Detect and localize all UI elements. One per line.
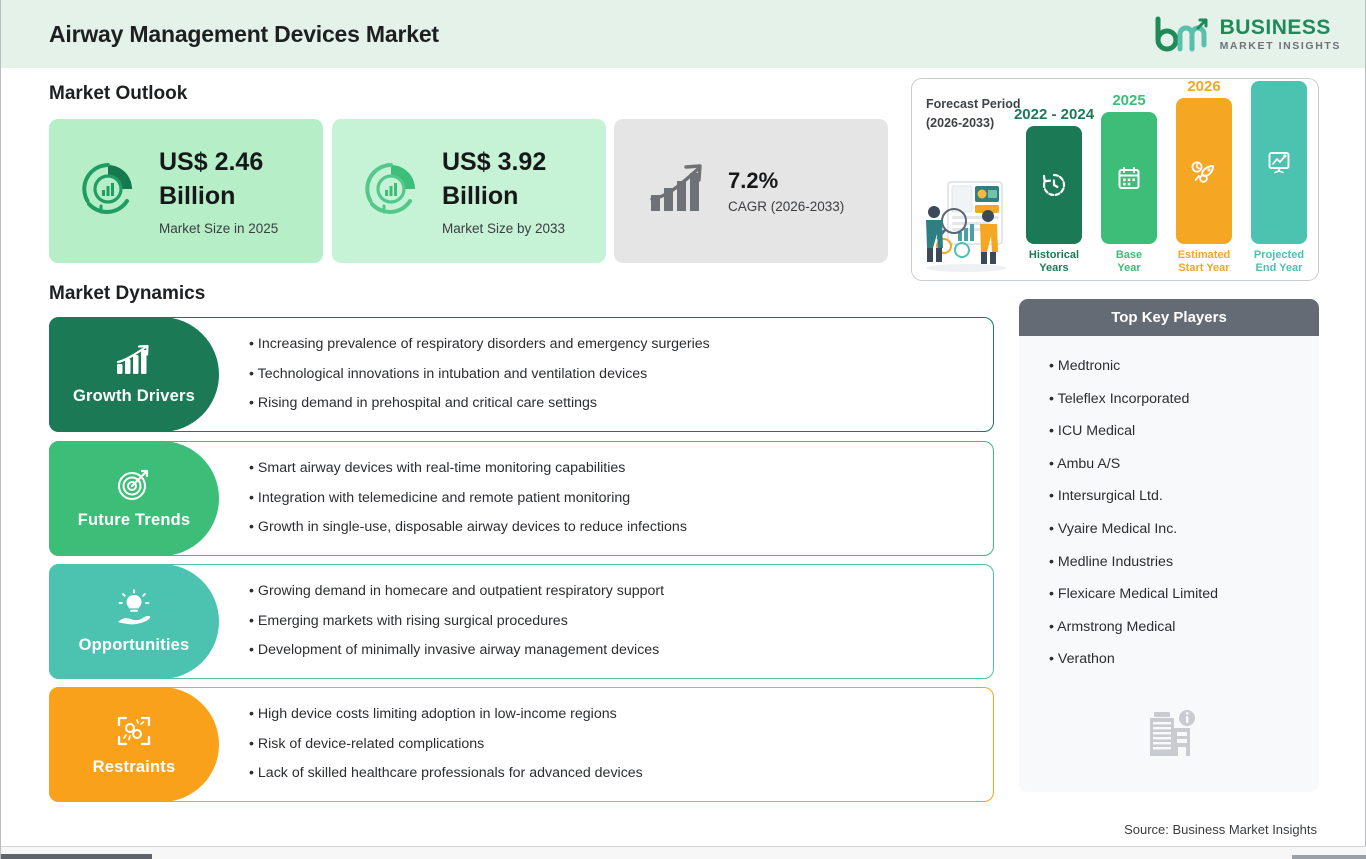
dynamics-pill-label: Restraints [93, 758, 176, 777]
stat-card-market-size-2033: US$ 3.92 Billion Market Size by 2033 [332, 119, 606, 263]
bar-caption-line2: Start Year [1178, 262, 1231, 276]
rocket-target-icon [1190, 158, 1218, 184]
bar-caption: Projected End Year [1254, 249, 1304, 277]
dynamics-row-future-trends: Future Trends • Smart airway devices wit… [49, 441, 994, 556]
bullet-item: • Increasing prevalence of respiratory d… [249, 336, 980, 354]
bar-caption-line2: End Year [1254, 262, 1304, 276]
constraint-brackets-icon [115, 713, 153, 754]
presentation-chart-icon [1266, 149, 1292, 175]
bar-caption-line2: Year [1116, 262, 1142, 276]
bmi-logo-icon [1154, 15, 1210, 53]
forecast-bars: 2022 - 2024 Historical Years 2025 [1020, 79, 1319, 281]
bullet-item: • Smart airway devices with real-time mo… [249, 460, 980, 478]
bar-rect [1026, 126, 1082, 244]
key-players-header: Top Key Players [1019, 299, 1319, 336]
list-item: • ICU Medical [1049, 423, 1319, 439]
bar-year-label: 2025 [1112, 92, 1145, 109]
page-title: Airway Management Devices Market [49, 21, 439, 48]
bar-caption: Historical Years [1029, 249, 1079, 277]
brand-logo: BUSINESS MARKET INSIGHTS [1154, 15, 1341, 53]
forecast-bar-projected-end: 2033 Projected End Year [1251, 78, 1307, 276]
bar-year-label: 2026 [1187, 78, 1220, 95]
dynamics-row-restraints: Restraints • High device costs limiting … [49, 687, 994, 802]
list-item: • Armstrong Medical [1049, 619, 1319, 635]
scrollbar-end-marker[interactable] [1292, 855, 1366, 859]
page-header: Airway Management Devices Market BUSINES… [1, 0, 1365, 68]
forecast-subtitle-line: (2026-2033) [926, 114, 1020, 133]
bullet-item: • Emerging markets with rising surgical … [249, 613, 980, 631]
logo-brand-text: BUSINESS [1220, 17, 1341, 38]
bar-caption: Base Year [1116, 249, 1142, 277]
list-item: • Medtronic [1049, 358, 1319, 374]
forecast-title-line: Forecast Period [926, 95, 1020, 114]
team-analytics-illustration [918, 174, 1014, 274]
bar-caption-line1: Base [1116, 249, 1142, 263]
key-players-list: • Medtronic • Teleflex Incorporated • IC… [1019, 336, 1319, 667]
bullet-item: • High device costs limiting adoption in… [249, 706, 980, 724]
dynamics-pill-future-trends: Future Trends [49, 441, 219, 556]
forecast-bar-historical: 2022 - 2024 Historical Years [1026, 106, 1082, 277]
list-item: • Teleflex Incorporated [1049, 391, 1319, 407]
calendar-icon [1116, 165, 1142, 191]
dynamics-row-growth-drivers: Growth Drivers • Increasing prevalence o… [49, 317, 994, 432]
growth-arrow-chart-icon [648, 161, 710, 222]
bullet-item: • Development of minimally invasive airw… [249, 642, 980, 660]
bullet-item: • Growing demand in homecare and outpati… [249, 583, 980, 601]
stat-value-line2: Billion [442, 180, 565, 214]
stat-value-line2: Billion [159, 180, 278, 214]
list-item: • Ambu A/S [1049, 456, 1319, 472]
dynamics-pill-label: Future Trends [78, 511, 191, 530]
bar-rect [1101, 112, 1157, 244]
source-note: Source: Business Market Insights [1124, 822, 1317, 837]
company-building-info-icon [1144, 706, 1200, 762]
stat-value-cagr: 7.2% [728, 168, 844, 194]
bar-rect [1251, 81, 1307, 244]
dynamics-pill-opportunities: Opportunities [49, 564, 219, 679]
donut-chart-icon [79, 160, 137, 223]
dynamics-pill-restraints: Restraints [49, 687, 219, 802]
logo-tagline-text: MARKET INSIGHTS [1220, 41, 1341, 52]
dynamics-pill-label: Opportunities [79, 636, 190, 655]
bullet-item: • Technological innovations in intubatio… [249, 366, 980, 384]
stat-caption: Market Size in 2025 [159, 221, 278, 236]
donut-chart-icon [362, 160, 420, 223]
forecast-period-chart: Forecast Period (2026-2033) [911, 78, 1319, 281]
stat-caption: Market Size by 2033 [442, 221, 565, 236]
bar-caption-line2: Years [1029, 262, 1079, 276]
stat-card-cagr: 7.2% CAGR (2026-2033) [614, 119, 888, 263]
bar-caption-line1: Projected [1254, 249, 1304, 263]
bar-rect [1176, 98, 1232, 244]
forecast-chart-title: Forecast Period (2026-2033) [926, 95, 1020, 134]
list-item: • Flexicare Medical Limited [1049, 586, 1319, 602]
dynamics-pill-label: Growth Drivers [73, 387, 195, 406]
dynamics-bullets: • High device costs limiting adoption in… [249, 687, 980, 802]
forecast-bar-base-year: 2025 Base Year [1101, 92, 1157, 277]
bar-caption-line1: Estimated [1178, 249, 1231, 263]
bar-year-label: 2022 - 2024 [1014, 106, 1094, 123]
history-clock-icon [1041, 172, 1067, 198]
horizontal-scrollbar-track[interactable] [1, 846, 1366, 859]
key-players-heading: Top Key Players [1111, 309, 1227, 326]
bullet-item: • Lack of skilled healthcare professiona… [249, 765, 980, 783]
bullet-item: • Growth in single-use, disposable airwa… [249, 519, 980, 537]
stat-card-market-size-2025: US$ 2.46 Billion Market Size in 2025 [49, 119, 323, 263]
dynamics-bullets: • Increasing prevalence of respiratory d… [249, 317, 980, 432]
stat-value-line1: US$ 3.92 [442, 146, 565, 180]
bullet-item: • Rising demand in prehospital and criti… [249, 395, 980, 413]
bar-caption-line1: Historical [1029, 249, 1079, 263]
top-key-players-panel: Top Key Players • Medtronic • Teleflex I… [1019, 299, 1319, 792]
bullet-item: • Risk of device-related complications [249, 736, 980, 754]
dynamics-row-opportunities: Opportunities • Growing demand in homeca… [49, 564, 994, 679]
bullet-item: • Integration with telemedicine and remo… [249, 490, 980, 508]
stat-caption: CAGR (2026-2033) [728, 199, 844, 214]
infographic-page: Airway Management Devices Market BUSINES… [0, 0, 1366, 859]
stat-value-line1: US$ 2.46 [159, 146, 278, 180]
lightbulb-hand-icon [114, 589, 154, 632]
list-item: • Intersurgical Ltd. [1049, 488, 1319, 504]
market-dynamics-heading: Market Dynamics [49, 283, 205, 305]
list-item: • Medline Industries [1049, 554, 1319, 570]
list-item: • Vyaire Medical Inc. [1049, 521, 1319, 537]
bar-chart-arrow-icon [114, 344, 154, 383]
bar-caption: Estimated Start Year [1178, 249, 1231, 277]
forecast-bar-estimated-start: 2026 Estimated Start Year [1176, 78, 1232, 276]
target-dart-icon [115, 468, 153, 507]
list-item: • Verathon [1049, 651, 1319, 667]
dynamics-pill-growth-drivers: Growth Drivers [49, 317, 219, 432]
dynamics-bullets: • Smart airway devices with real-time mo… [249, 441, 980, 556]
market-outlook-heading: Market Outlook [49, 83, 187, 105]
horizontal-scrollbar-thumb[interactable] [1, 854, 152, 859]
dynamics-bullets: • Growing demand in homecare and outpati… [249, 564, 980, 679]
